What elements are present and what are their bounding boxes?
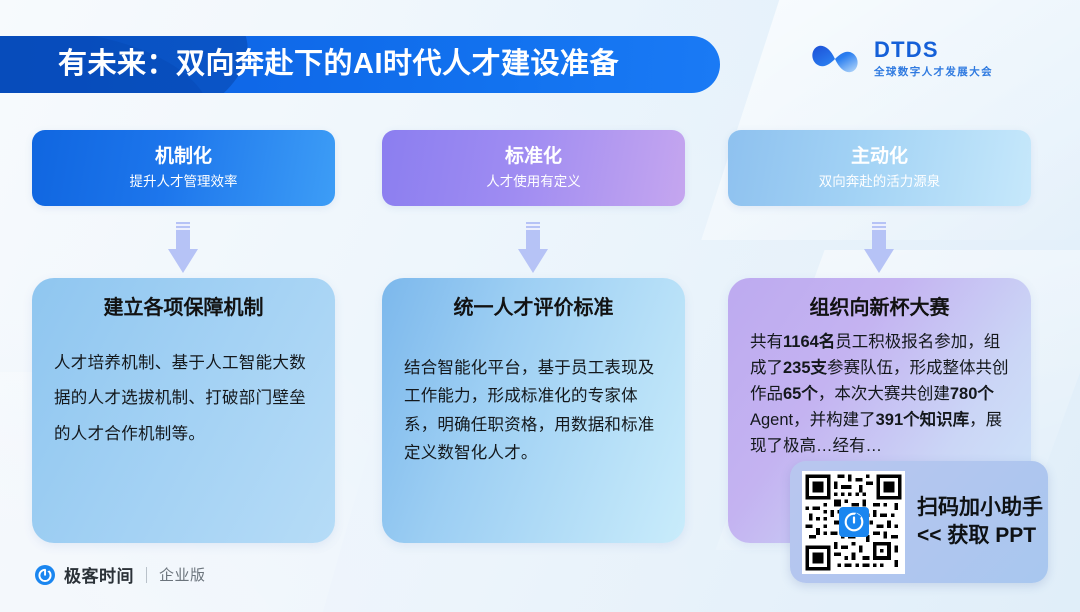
- qr-caption-line-2: << 获取 PPT: [917, 522, 1043, 550]
- stat-value-3: 65个: [783, 385, 818, 403]
- pillar-header-card-1: 机制化 提升人才管理效率: [32, 130, 335, 206]
- footer-watermark: 极客时间 企业版: [34, 562, 206, 587]
- brand-name: DTDS: [874, 38, 993, 61]
- geekbang-logo-icon: [34, 564, 56, 586]
- stat-text-prefix: 共有: [750, 333, 783, 351]
- qr-code-icon[interactable]: [802, 471, 905, 574]
- pillar-body-card-1: 建立各项保障机制 人才培养机制、基于人工智能大数据的人才选拔机制、打破部门壁垒的…: [32, 278, 335, 543]
- pillar-body-title-2: 统一人才评价标准: [404, 296, 663, 320]
- footer-edition: 企业版: [159, 564, 206, 585]
- arrow-down-icon: [518, 222, 548, 274]
- infinity-icon: [808, 39, 862, 79]
- pillar-body-card-2: 统一人才评价标准 结合智能化平台，基于员工表现及工作能力，形成标准化的专家体系，…: [382, 278, 685, 543]
- pillar-title-2: 标准化: [505, 146, 562, 168]
- pillar-title-1: 机制化: [155, 146, 212, 168]
- slide-title-bar: 有未来：双向奔赴下的AI时代人才建设准备: [0, 36, 720, 93]
- slide-canvas: 有未来：双向奔赴下的AI时代人才建设准备 DTDS 全球数字人才发展大会 机制化…: [0, 0, 1080, 612]
- pillar-title-3: 主动化: [851, 146, 908, 168]
- page-title: 有未来：双向奔赴下的AI时代人才建设准备: [58, 36, 720, 93]
- arrow-down-icon: [864, 222, 894, 274]
- pillar-body-title-3: 组织向新杯大赛: [750, 296, 1009, 320]
- pillar-subtitle-2: 人才使用有定义: [486, 174, 581, 190]
- pillar-subtitle-3: 双向奔赴的活力源泉: [819, 174, 941, 190]
- stat-text-4: Agent，并构建了: [750, 411, 876, 429]
- pillar-header-card-3: 主动化 双向奔赴的活力源泉: [728, 130, 1031, 206]
- pillar-body-text-1: 人才培养机制、基于人工智能大数据的人才选拔机制、打破部门壁垒的人才合作机制等。: [54, 346, 313, 452]
- brand-subtitle: 全球数字人才发展大会: [874, 64, 993, 79]
- stat-text-3: ，本次大赛共创建: [818, 385, 950, 403]
- pillar-header-card-2: 标准化 人才使用有定义: [382, 130, 685, 206]
- stat-value-2: 235支: [783, 359, 827, 377]
- footer-brand-name: 极客时间: [64, 562, 134, 587]
- pillar-body-text-2: 结合智能化平台，基于员工表现及工作能力，形成标准化的专家体系，明确任职资格，用数…: [404, 354, 663, 468]
- pillar-subtitle-1: 提升人才管理效率: [130, 174, 238, 190]
- qr-code-overlay[interactable]: 扫码加小助手 << 获取 PPT: [790, 461, 1048, 583]
- pillar-body-text-3: 共有1164名员工积极报名参加，组成了235支参赛队伍，形成整体共创作品65个，…: [750, 329, 1009, 459]
- stat-value-1: 1164名: [783, 333, 835, 351]
- stat-value-5: 391个知识库: [876, 411, 970, 429]
- conference-logo: DTDS 全球数字人才发展大会: [808, 38, 993, 79]
- geekbang-logo-icon: [839, 507, 869, 537]
- arrow-down-icon: [168, 222, 198, 274]
- qr-caption: 扫码加小助手 << 获取 PPT: [917, 494, 1043, 549]
- footer-divider: [146, 567, 147, 583]
- pillar-body-title-1: 建立各项保障机制: [54, 296, 313, 320]
- qr-caption-line-1: 扫码加小助手: [917, 494, 1043, 522]
- stat-value-4: 780个: [950, 385, 994, 403]
